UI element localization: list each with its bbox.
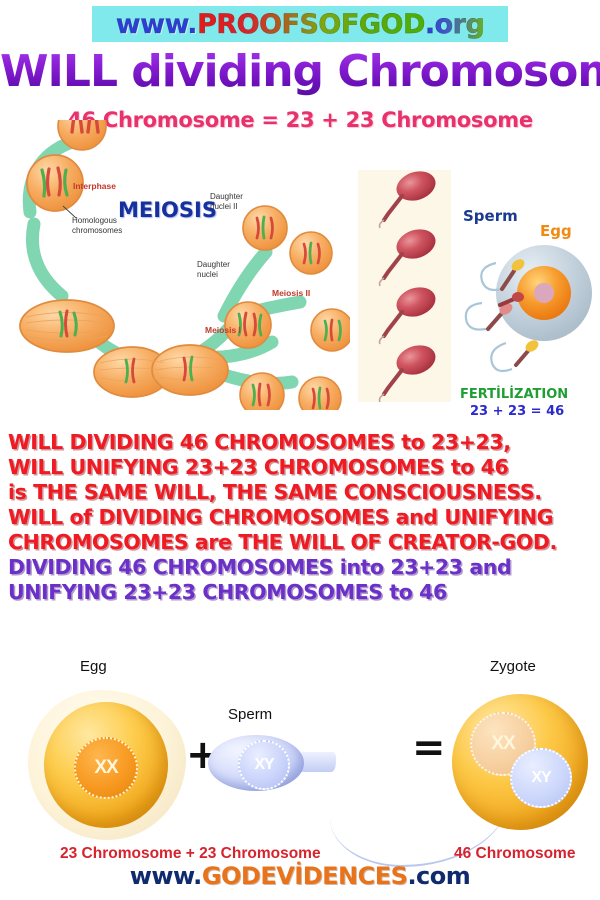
sperm-strip-svg bbox=[358, 170, 451, 402]
header-url-text: www.PROOFSOFGOD.org bbox=[116, 9, 485, 40]
label-interphase: Interphase bbox=[73, 181, 116, 191]
label-meiosis-1: Meiosis I bbox=[205, 325, 241, 335]
poster-root: www.PROOFSOFGOD.org WILL dividing Chromo… bbox=[0, 0, 600, 900]
fertilization-diagram bbox=[452, 215, 600, 390]
bottom-right-caption: 46 Chromosome bbox=[454, 845, 575, 863]
bottom-egg-nucleus: XX bbox=[74, 737, 138, 799]
page-title: WILL dividing Chromosomes bbox=[0, 48, 600, 96]
bottom-zygote-chromosomes-a: XX bbox=[491, 733, 514, 755]
fert-sperm-label: Sperm bbox=[463, 207, 518, 225]
statement-line-2: WILL UNIFYING 23+23 CHROMOSOMES to 46 bbox=[8, 455, 594, 480]
header-url-tld: .org bbox=[425, 9, 484, 40]
bottom-zygote-chromosomes-b: XY bbox=[531, 769, 550, 787]
sperm-specimen-2 bbox=[380, 225, 440, 286]
bottom-sperm-chromosomes: XY bbox=[254, 756, 273, 774]
egg-nucleolus bbox=[534, 283, 554, 303]
label-daughter-nuclei: Daughter nuclei bbox=[197, 260, 230, 280]
footer-url-name: GODEVİDENCES bbox=[202, 862, 408, 890]
sperm-photo-strip bbox=[358, 170, 451, 402]
statement-line-1: WILL DIVIDING 46 CHROMOSOMES to 23+23, bbox=[8, 430, 594, 455]
bottom-sperm-label: Sperm bbox=[228, 706, 272, 723]
footer-url-www: www. bbox=[130, 862, 202, 890]
meiosis-title: MEIOSIS bbox=[118, 198, 217, 222]
bottom-egg-chromosomes: XX bbox=[94, 757, 117, 779]
sperm-specimen-1 bbox=[380, 170, 440, 228]
bottom-sperm-nucleus: XY bbox=[238, 740, 290, 790]
meiosis-diagram-svg bbox=[0, 120, 350, 410]
statement-block: WILL DIVIDING 46 CHROMOSOMES to 23+23, W… bbox=[8, 430, 594, 605]
bottom-zygote-label: Zygote bbox=[490, 658, 536, 675]
header-url-band: www.PROOFSOFGOD.org bbox=[92, 6, 508, 42]
footer-url-tld: .com bbox=[407, 862, 470, 890]
statement-line-4: WILL of DIVIDING CHROMOSOMES and UNIFYIN… bbox=[8, 505, 594, 530]
sperm-specimen-3 bbox=[380, 283, 440, 344]
label-meiosis-2: Meiosis II bbox=[272, 288, 310, 298]
cell-daughter-nuclei-2a bbox=[243, 206, 287, 250]
header-url-name: PROOFSOFGOD bbox=[197, 9, 425, 40]
bottom-egg-label: Egg bbox=[80, 658, 107, 675]
statement-line-5: CHROMOSOMES are THE WILL OF CREATOR-GOD. bbox=[8, 530, 594, 555]
bottom-zygote-nucleus-xy: XY bbox=[510, 748, 572, 808]
statement-line-6: DIVIDING 46 CHROMOSOMES into 23+23 and bbox=[8, 555, 594, 580]
bottom-left-caption: 23 Chromosome + 23 Chromosome bbox=[60, 845, 321, 863]
cell-daughter-nuclei-2d bbox=[240, 373, 284, 410]
label-daughter-nuclei-2: Daughter nuclei II bbox=[210, 192, 243, 212]
sperm-specimen-4 bbox=[380, 341, 440, 402]
meiosis-diagram: MEIOSIS Interphase Homologous chromosome… bbox=[0, 120, 350, 410]
fertilization-svg bbox=[452, 215, 600, 390]
fertilization-label: FERTİLİZATION bbox=[460, 387, 568, 402]
fertilization-equation: 23 + 23 = 46 bbox=[470, 404, 564, 419]
statement-line-7: UNIFYING 23+23 CHROMOSOMES to 46 bbox=[8, 580, 594, 605]
equals-operator: = bbox=[412, 728, 446, 768]
statement-line-3: is THE SAME WILL, THE SAME CONSCIOUSNESS… bbox=[8, 480, 594, 505]
fert-egg-label: Egg bbox=[540, 222, 572, 240]
header-url-www: www. bbox=[116, 9, 197, 40]
footer-url: www.GODEVİDENCES.com bbox=[0, 862, 600, 890]
label-homologous-chromosomes: Homologous chromosomes bbox=[72, 216, 122, 236]
